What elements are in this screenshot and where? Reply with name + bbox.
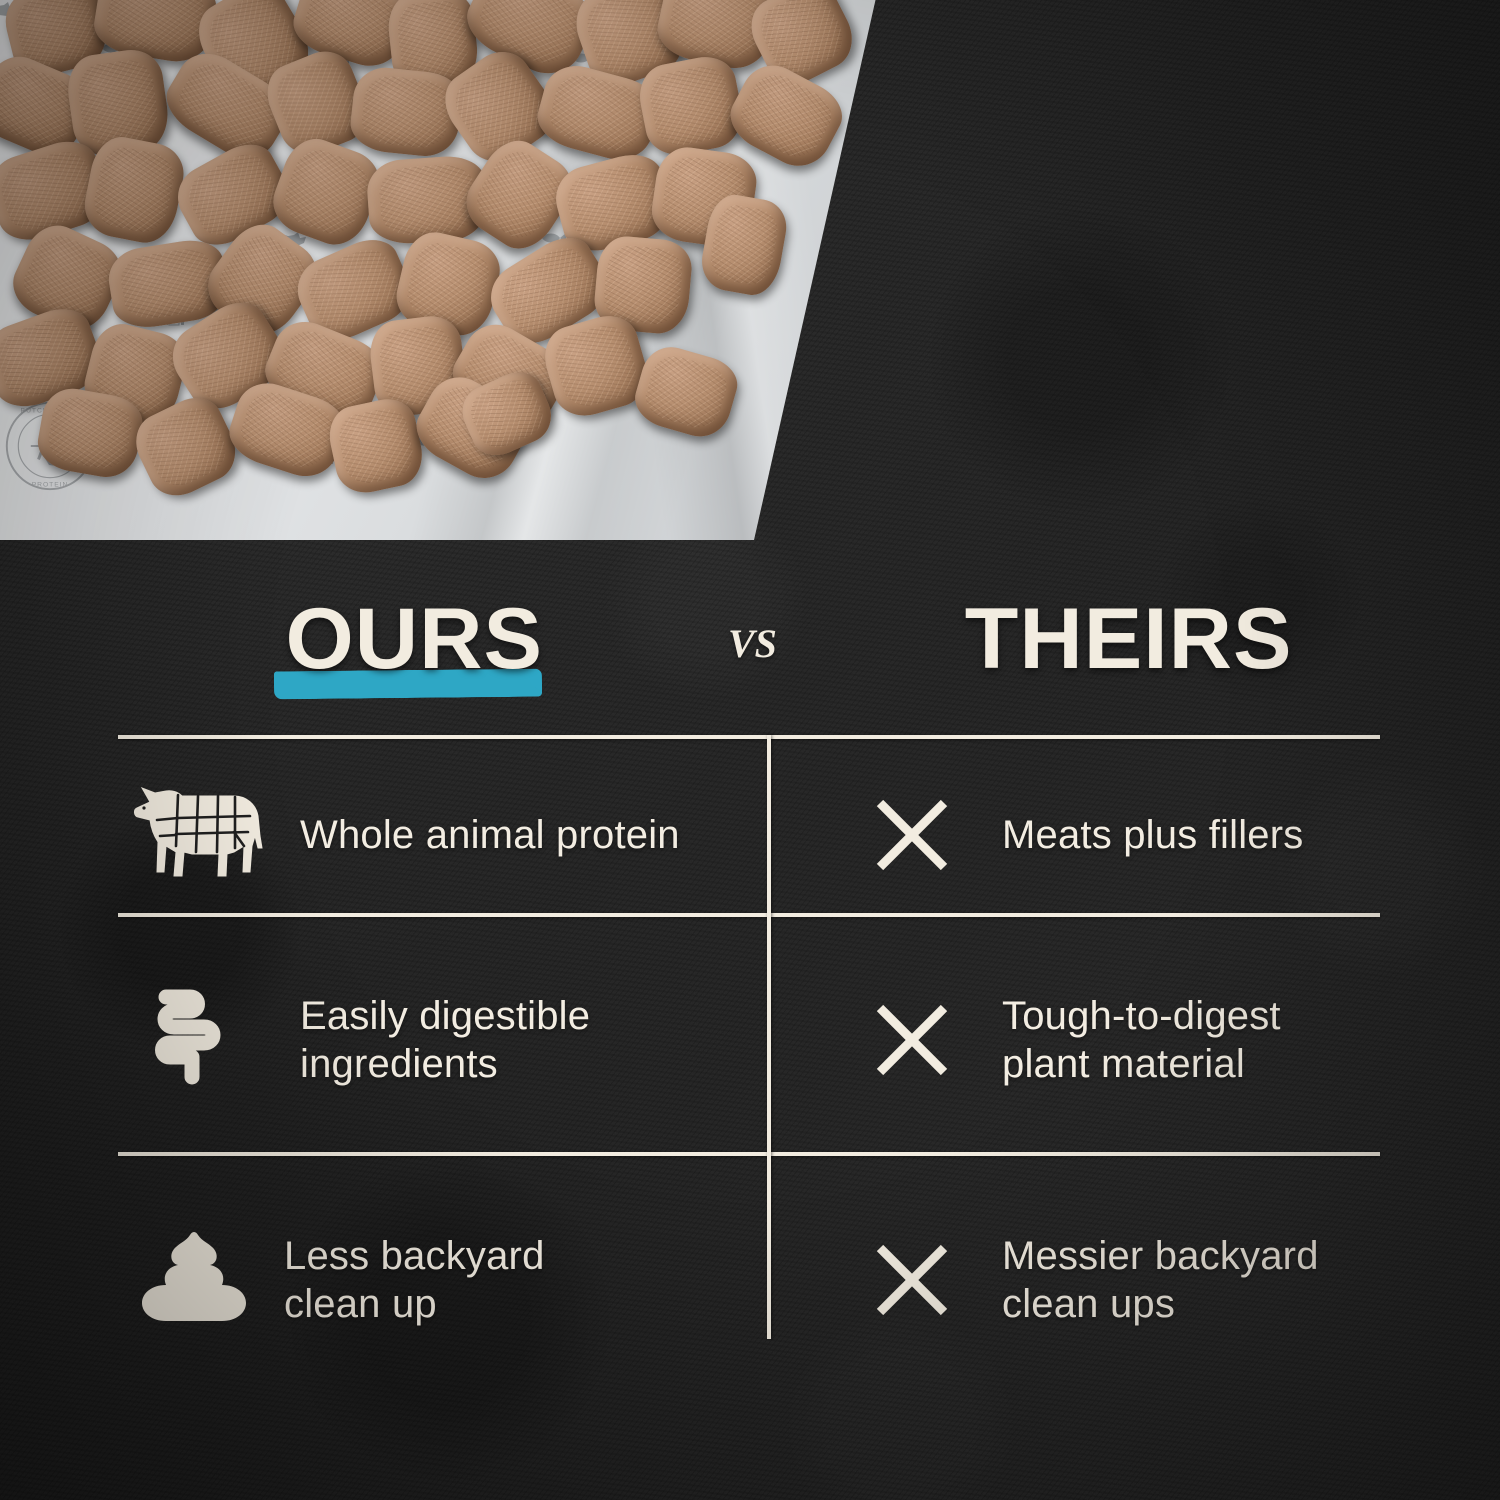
- table-row: Messier backyard clean ups: [830, 1200, 1410, 1360]
- intestine-icon: [122, 985, 272, 1095]
- ours-row-label: Whole animal protein: [300, 811, 680, 859]
- x-mark-icon: [862, 785, 962, 885]
- theirs-row-label: Messier backyard clean ups: [1002, 1232, 1319, 1328]
- table-row: Easily digestible ingredients: [118, 960, 768, 1120]
- cow-butcher-cut-icon: [122, 780, 272, 890]
- x-mark-icon: [862, 1230, 962, 1330]
- poop-icon: [122, 1225, 272, 1335]
- product-comparison-infographic: BUTCHER CUT PROTEIN: [0, 0, 1500, 1500]
- table-row: Tough-to-digest plant material: [830, 960, 1390, 1120]
- label-line: ingredients: [300, 1040, 590, 1088]
- theirs-row-label: Tough-to-digest plant material: [1002, 992, 1281, 1088]
- label-line: clean up: [284, 1280, 545, 1328]
- x-mark-icon: [862, 990, 962, 1090]
- table-divider-mid-1: [118, 913, 1380, 917]
- label-line: Less backyard: [284, 1232, 545, 1280]
- comparison-table: Whole animal protein Meats plus fillers …: [0, 0, 1500, 1500]
- ours-row-label: Easily digestible ingredients: [300, 992, 590, 1088]
- label-line: Easily digestible: [300, 992, 590, 1040]
- ours-row-label: Less backyard clean up: [284, 1232, 545, 1328]
- label-line: Messier backyard: [1002, 1232, 1319, 1280]
- label-line: clean ups: [1002, 1280, 1319, 1328]
- table-divider-top: [118, 735, 1380, 739]
- table-row: Less backyard clean up: [118, 1200, 768, 1360]
- table-divider-mid-2: [118, 1152, 1380, 1156]
- table-row: Whole animal protein: [118, 760, 768, 910]
- table-row: Meats plus fillers: [830, 760, 1390, 910]
- label-line: plant material: [1002, 1040, 1281, 1088]
- label-line: Tough-to-digest: [1002, 992, 1281, 1040]
- theirs-row-label: Meats plus fillers: [1002, 811, 1303, 859]
